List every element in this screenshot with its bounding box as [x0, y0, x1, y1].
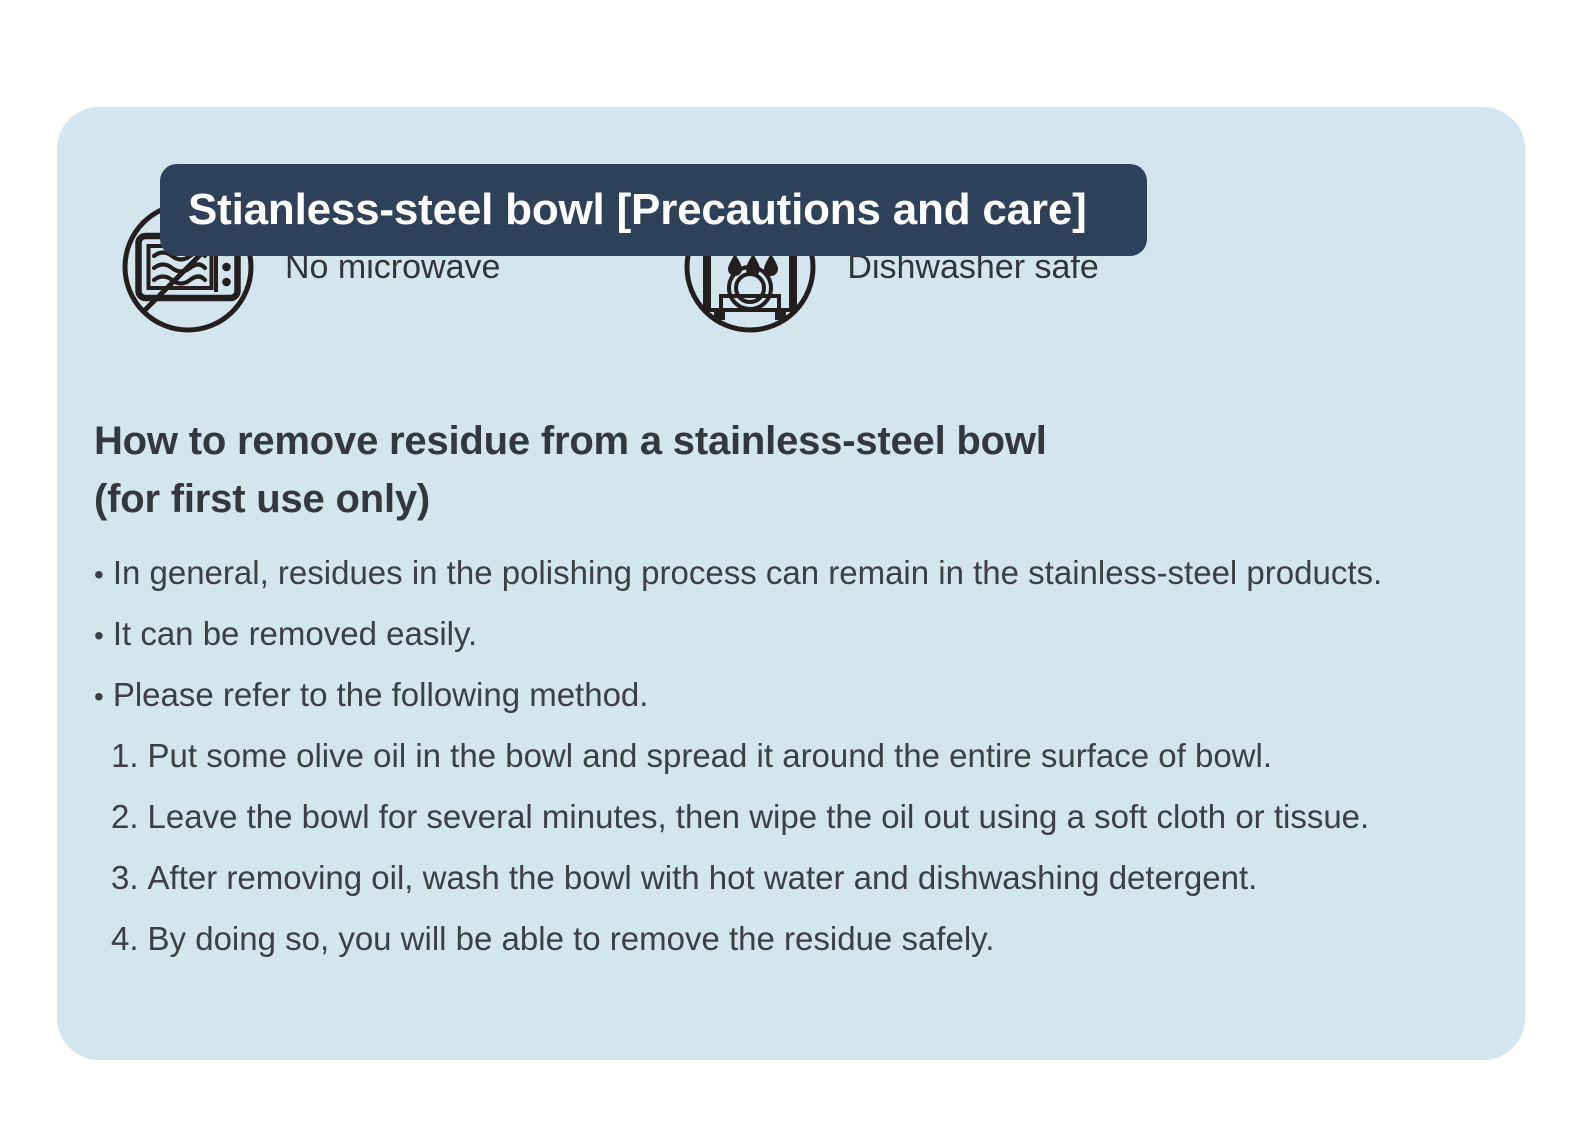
section-heading-line-1: How to remove residue from a stainless-s…	[94, 412, 1501, 470]
bullet-item: • In general, residues in the polishing …	[94, 542, 1501, 603]
step-item: 1. Put some olive oil in the bowl and sp…	[111, 725, 1501, 786]
care-card: Stianless-steel bowl [Precautions and ca…	[57, 107, 1525, 1060]
step-number: 2.	[111, 800, 139, 833]
bullet-text: Please refer to the following method.	[113, 678, 649, 711]
bullet-item: • Please refer to the following method.	[94, 664, 1501, 725]
step-item: 2. Leave the bowl for several minutes, t…	[111, 786, 1501, 847]
bullet-text: In general, residues in the polishing pr…	[113, 556, 1382, 589]
step-text: By doing so, you will be able to remove …	[148, 922, 995, 955]
bullet-marker: •	[94, 683, 104, 711]
step-text: After removing oil, wash the bowl with h…	[148, 861, 1258, 894]
instructions-block: How to remove residue from a stainless-s…	[94, 412, 1501, 969]
step-text: Leave the bowl for several minutes, then…	[148, 800, 1370, 833]
step-text: Put some olive oil in the bowl and sprea…	[148, 739, 1272, 772]
bullet-text: It can be removed easily.	[113, 617, 477, 650]
page-title: Stianless-steel bowl [Precautions and ca…	[188, 188, 1087, 232]
step-number: 4.	[111, 922, 139, 955]
step-item: 3. After removing oil, wash the bowl wit…	[111, 847, 1501, 908]
bullet-marker: •	[94, 561, 104, 589]
section-heading-line-2: (for first use only)	[94, 470, 1501, 528]
bullet-marker: •	[94, 622, 104, 650]
bullet-item: • It can be removed easily.	[94, 603, 1501, 664]
step-number: 3.	[111, 861, 139, 894]
step-item: 4. By doing so, you will be able to remo…	[111, 908, 1501, 969]
card-header-pill: Stianless-steel bowl [Precautions and ca…	[160, 164, 1147, 256]
step-number: 1.	[111, 739, 139, 772]
